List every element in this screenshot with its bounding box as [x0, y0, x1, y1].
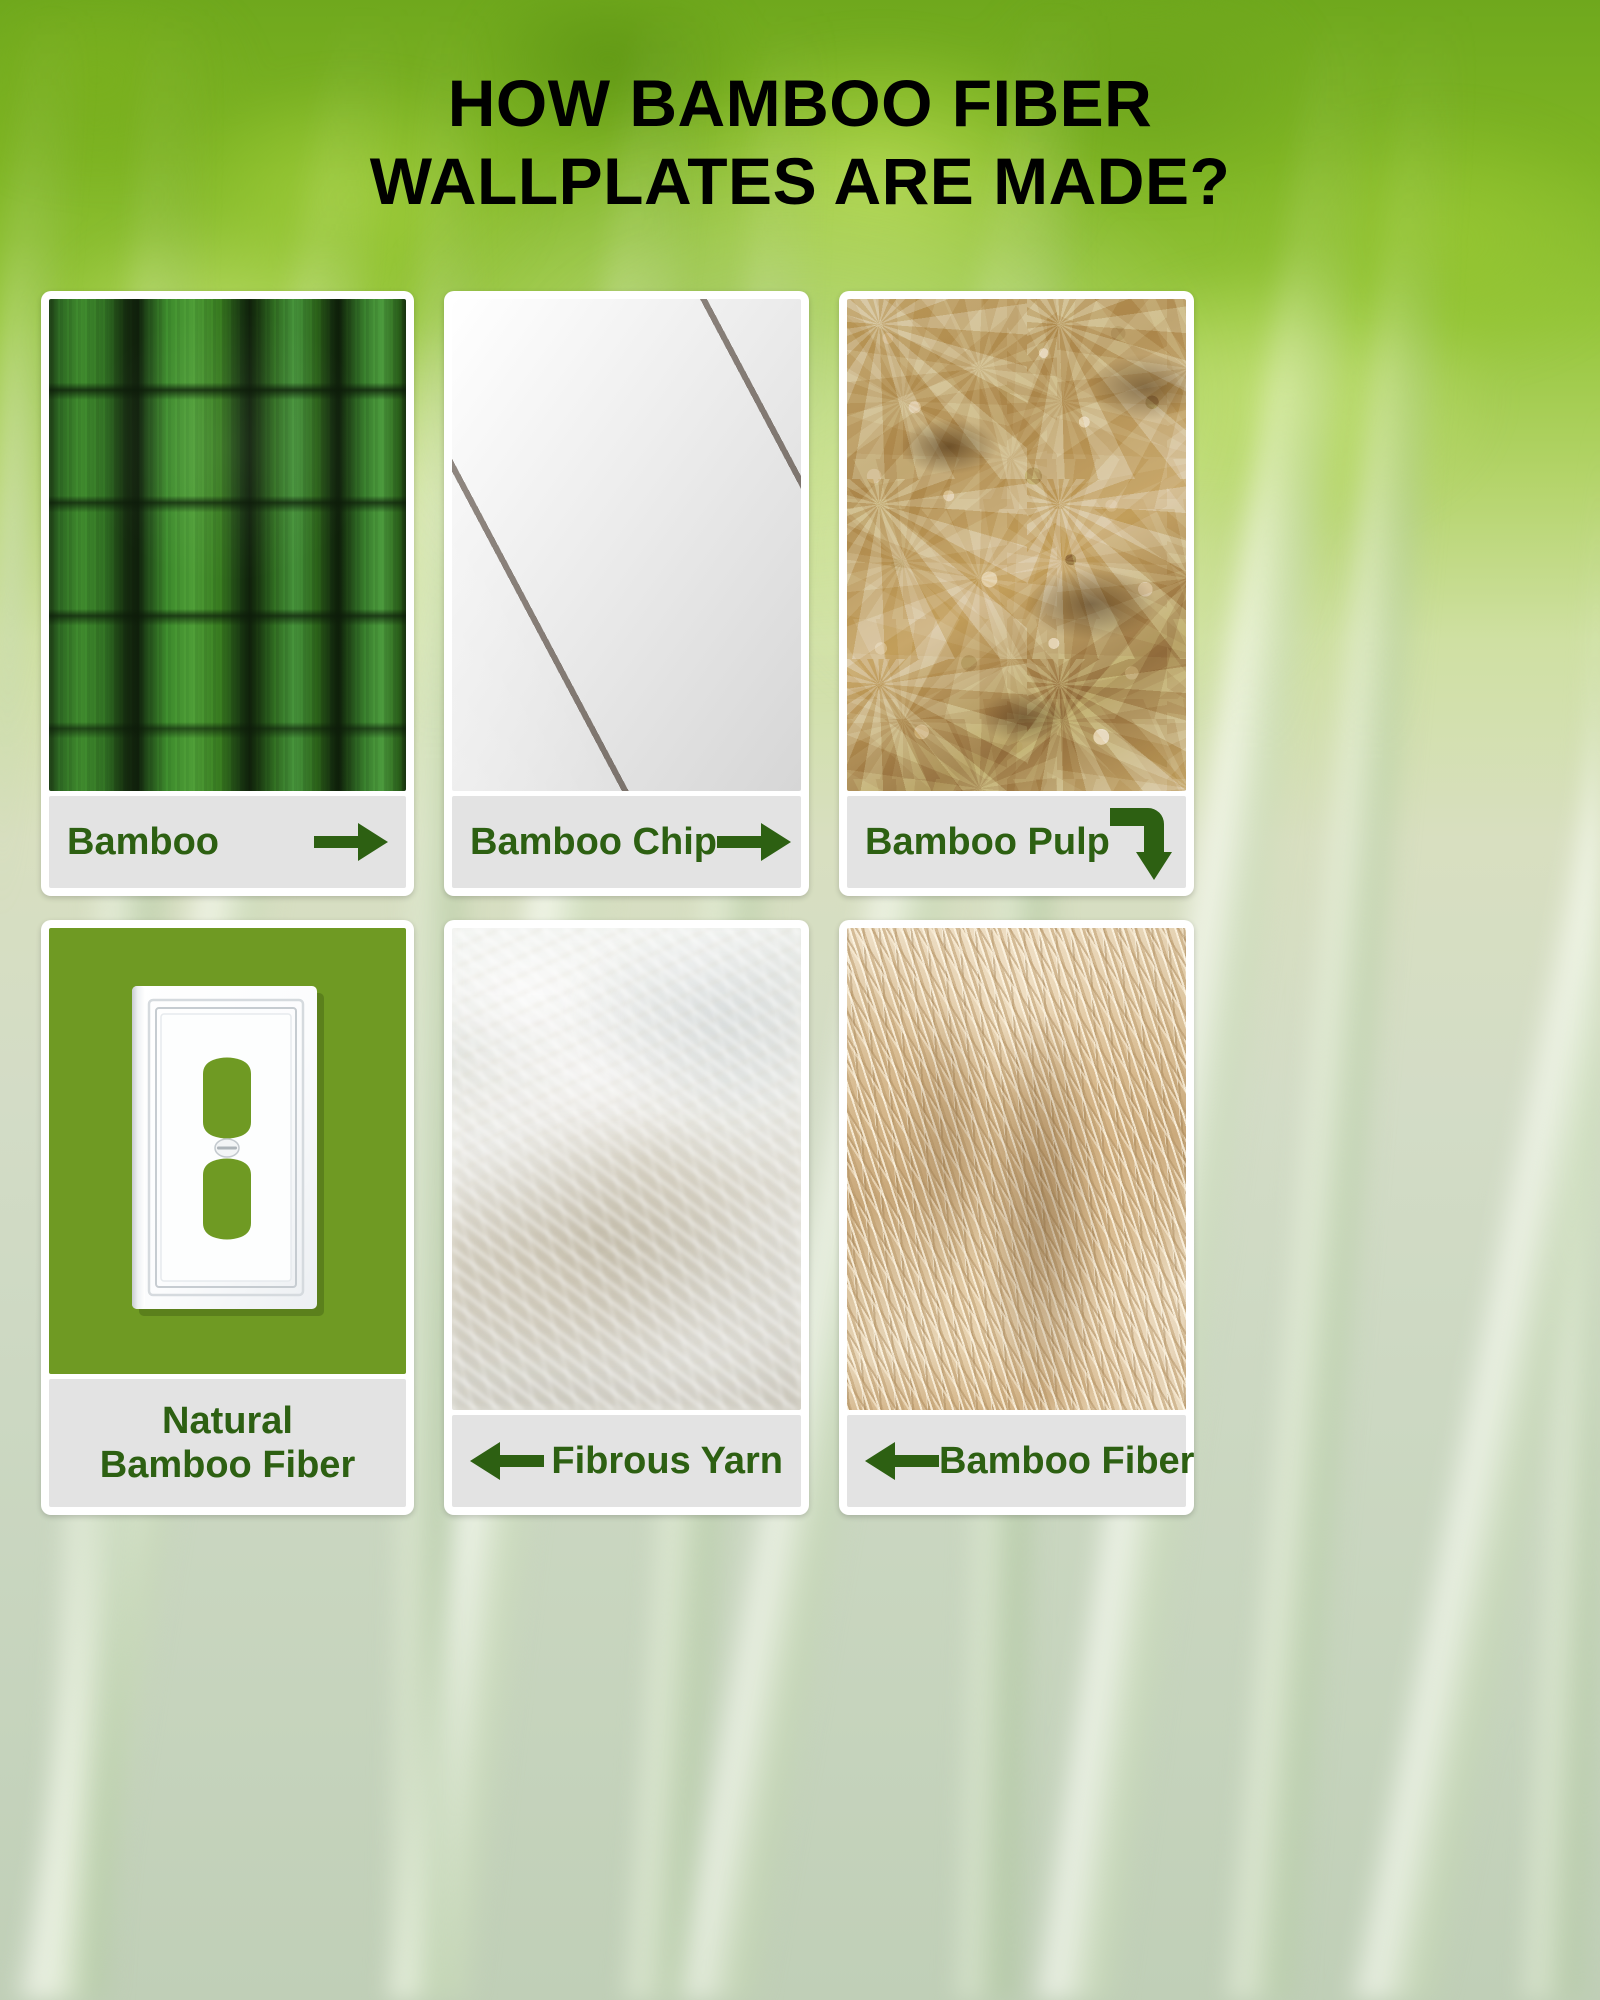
caption-fibrous-yarn: Fibrous Yarn: [452, 1415, 801, 1507]
arrow-right-icon: [314, 823, 388, 861]
infographic-title: HOW BAMBOO FIBER WALLPLATES ARE MADE?: [0, 64, 1600, 220]
fibrous-yarn-white-fluff-photo: [452, 928, 801, 1410]
arrow-right-icon: [717, 823, 791, 861]
caption-bamboo: Bamboo: [49, 796, 406, 888]
step-label-bamboo-chip: Bamboo Chip: [470, 820, 717, 864]
arrow-left-icon: [865, 1442, 939, 1480]
bamboo-pulp-flakes-photo: [847, 299, 1186, 791]
step-card-bamboo-chip[interactable]: Bamboo Chip: [444, 291, 809, 896]
infographic-root: HOW BAMBOO FIBER WALLPLATES ARE MADE? Ba…: [0, 0, 1600, 2000]
step-card-bamboo-pulp[interactable]: Bamboo Pulp: [839, 291, 1194, 896]
yarn-wisp-texture: [452, 928, 801, 1410]
step-label-fibrous-yarn: Fibrous Yarn: [551, 1439, 783, 1483]
step-card-bamboo-fiber[interactable]: Bamboo Fiber: [839, 920, 1194, 1515]
step-card-bamboo[interactable]: Bamboo: [41, 291, 414, 896]
step-label-bamboo: Bamboo: [67, 820, 219, 864]
pulp-shadow-overlay: [847, 299, 1186, 791]
bamboo-chip-strips-photo: [452, 299, 801, 791]
chip-sheen-overlay: [452, 299, 801, 791]
step-card-fibrous-yarn[interactable]: Fibrous Yarn: [444, 920, 809, 1515]
caption-natural-bamboo-fiber: Natural Bamboo Fiber: [49, 1379, 406, 1507]
bamboo-node-rings: [49, 299, 406, 791]
fiber-shadow-overlay: [847, 928, 1186, 1410]
step-card-natural-bamboo-fiber[interactable]: Natural Bamboo Fiber: [41, 920, 414, 1515]
arrow-elbow-down-icon: [1110, 804, 1172, 880]
caption-bamboo-chip: Bamboo Chip: [452, 796, 801, 888]
bamboo-culms-photo: [49, 299, 406, 791]
process-steps-grid: Bamboo Bamboo Chip: [41, 291, 1559, 1515]
step-label-line-2: Bamboo Fiber: [100, 1443, 355, 1487]
step-label-bamboo-pulp: Bamboo Pulp: [865, 820, 1110, 864]
bamboo-fiber-wallplate-product: [49, 928, 406, 1374]
bamboo-fiber-strands-photo: [847, 928, 1186, 1410]
step-label-bamboo-fiber: Bamboo Fiber: [939, 1439, 1194, 1483]
wallplate-illustration: [132, 986, 324, 1316]
arrow-left-icon: [470, 1442, 544, 1480]
step-label-line-1: Natural: [100, 1399, 355, 1443]
caption-bamboo-fiber: Bamboo Fiber: [847, 1415, 1186, 1507]
caption-bamboo-pulp: Bamboo Pulp: [847, 796, 1186, 888]
step-label-natural-bamboo-fiber: Natural Bamboo Fiber: [100, 1399, 355, 1487]
title-line-2: WALLPLATES ARE MADE?: [0, 142, 1600, 220]
title-line-1: HOW BAMBOO FIBER: [0, 64, 1600, 142]
